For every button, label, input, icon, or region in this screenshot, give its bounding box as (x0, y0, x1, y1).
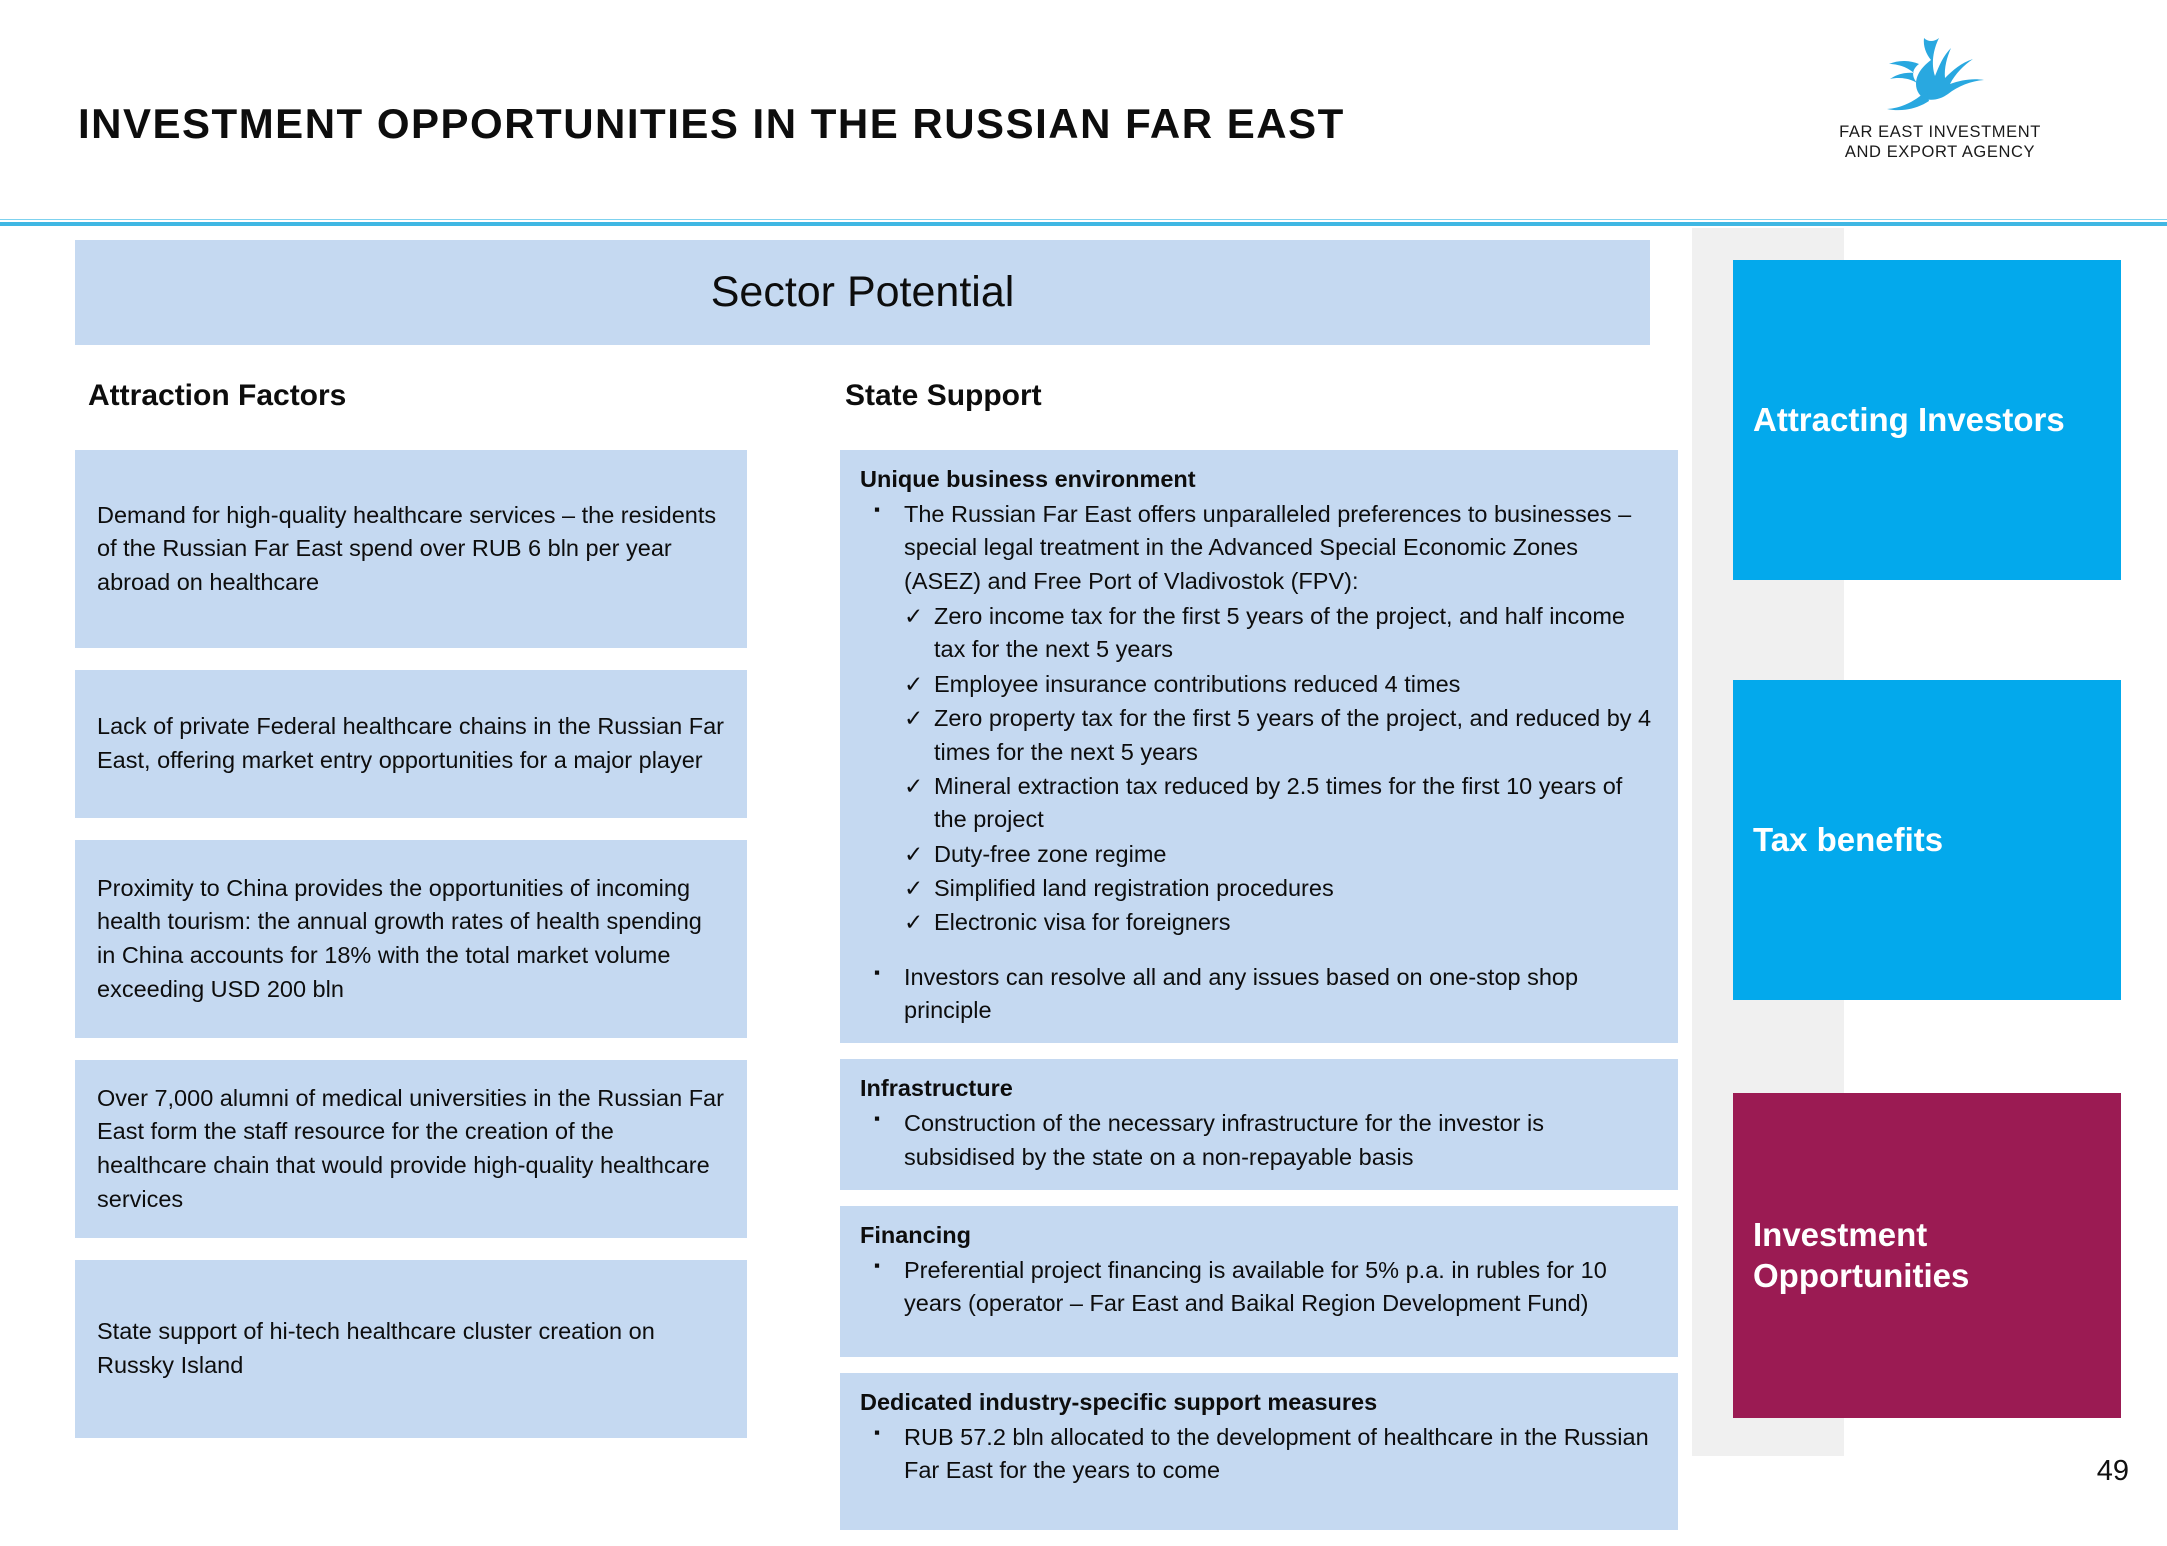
attraction-factor-text: Lack of private Federal healthcare chain… (97, 710, 725, 777)
attraction-factor-text: State support of hi-tech healthcare clus… (97, 1315, 725, 1382)
check-bullet-icon: ✓ (904, 872, 934, 905)
bullet-item: ▪ RUB 57.2 bln allocated to the developm… (860, 1421, 1658, 1488)
page-title: INVESTMENT OPPORTUNITIES IN THE RUSSIAN … (78, 100, 1345, 148)
bullet-item: ✓ Electronic visa for foreigners (860, 906, 1658, 939)
bullet-text: Duty-free zone regime (934, 838, 1658, 871)
attraction-factor-text: Proximity to China provides the opportun… (97, 872, 725, 1006)
sector-potential-banner: Sector Potential (75, 240, 1650, 345)
check-bullet-icon: ✓ (904, 702, 934, 735)
agency-logo: FAR EAST INVESTMENT AND EXPORT AGENCY (1810, 30, 2070, 162)
attraction-factor-card: State support of hi-tech healthcare clus… (75, 1260, 747, 1438)
bullet-item: ▪ The Russian Far East offers unparallel… (860, 498, 1658, 598)
state-support-card-title: Unique business environment (860, 466, 1658, 493)
square-bullet-icon: ▪ (874, 1421, 904, 1445)
sidebar-tile-attracting-investors[interactable]: Attracting Investors (1733, 260, 2121, 580)
square-bullet-icon: ▪ (874, 1107, 904, 1131)
state-support-card: Financing ▪ Preferential project financi… (840, 1206, 1678, 1357)
bullet-text: Preferential project financing is availa… (904, 1254, 1658, 1321)
sector-potential-label: Sector Potential (711, 268, 1015, 317)
state-support-heading: State Support (845, 379, 1042, 413)
check-bullet-icon: ✓ (904, 600, 934, 633)
check-bullet-icon: ✓ (904, 770, 934, 803)
bullet-item: ✓ Zero income tax for the first 5 years … (860, 600, 1658, 667)
sidebar-tile-tax-benefits[interactable]: Tax benefits (1733, 680, 2121, 1000)
state-support-card: Unique business environment ▪ The Russia… (840, 450, 1678, 1043)
lotus-logo-icon (1865, 30, 2015, 122)
state-support-card: Dedicated industry-specific support meas… (840, 1373, 1678, 1530)
bullet-text: Investors can resolve all and any issues… (904, 961, 1658, 1028)
attraction-factors-heading: Attraction Factors (88, 379, 346, 413)
slide-header: INVESTMENT OPPORTUNITIES IN THE RUSSIAN … (0, 0, 2167, 226)
square-bullet-icon: ▪ (874, 1254, 904, 1278)
attraction-factor-text: Over 7,000 alumni of medical universitie… (97, 1082, 725, 1216)
bullet-item: ✓ Mineral extraction tax reduced by 2.5 … (860, 770, 1658, 837)
bullet-text: RUB 57.2 bln allocated to the developmen… (904, 1421, 1658, 1488)
bullet-item: ▪ Preferential project financing is avai… (860, 1254, 1658, 1321)
bullet-text: Electronic visa for foreigners (934, 906, 1658, 939)
bullet-item: ✓ Duty-free zone regime (860, 838, 1658, 871)
bullet-text: Zero income tax for the first 5 years of… (934, 600, 1658, 667)
header-divider-light (0, 219, 2167, 220)
header-divider (0, 222, 2167, 226)
attraction-factor-card: Demand for high-quality healthcare servi… (75, 450, 747, 648)
attraction-factors-column: Demand for high-quality healthcare servi… (75, 450, 747, 1460)
bullet-text: Employee insurance contributions reduced… (934, 668, 1658, 701)
square-bullet-icon: ▪ (874, 961, 904, 985)
bullet-group-spacer (860, 941, 1658, 961)
attraction-factor-text: Demand for high-quality healthcare servi… (97, 499, 725, 600)
state-support-card-title: Infrastructure (860, 1075, 1658, 1102)
check-bullet-icon: ✓ (904, 838, 934, 871)
bullet-item: ✓ Employee insurance contributions reduc… (860, 668, 1658, 701)
bullet-text: The Russian Far East offers unparalleled… (904, 498, 1658, 598)
attraction-factor-card: Proximity to China provides the opportun… (75, 840, 747, 1038)
bullet-item: ▪ Investors can resolve all and any issu… (860, 961, 1658, 1028)
bullet-text: Zero property tax for the first 5 years … (934, 702, 1658, 769)
page-number: 49 (2097, 1455, 2129, 1488)
check-bullet-icon: ✓ (904, 906, 934, 939)
logo-text-line-1: FAR EAST INVESTMENT (1810, 122, 2070, 142)
bullet-item: ▪ Construction of the necessary infrastr… (860, 1107, 1658, 1174)
attraction-factor-card: Lack of private Federal healthcare chain… (75, 670, 747, 818)
logo-text-line-2: AND EXPORT AGENCY (1810, 142, 2070, 162)
sidebar-tile-label: Attracting Investors (1753, 400, 2065, 441)
bullet-item: ✓ Zero property tax for the first 5 year… (860, 702, 1658, 769)
check-bullet-icon: ✓ (904, 668, 934, 701)
state-support-column: Unique business environment ▪ The Russia… (840, 450, 1678, 1546)
state-support-card: Infrastructure ▪ Construction of the nec… (840, 1059, 1678, 1190)
state-support-card-title: Financing (860, 1222, 1658, 1249)
sidebar-tile-investment-opportunities[interactable]: Investment Opportunities (1733, 1093, 2121, 1418)
bullet-item: ✓ Simplified land registration procedure… (860, 872, 1658, 905)
attraction-factor-card: Over 7,000 alumni of medical universitie… (75, 1060, 747, 1238)
state-support-card-title: Dedicated industry-specific support meas… (860, 1389, 1658, 1416)
square-bullet-icon: ▪ (874, 498, 904, 522)
bullet-text: Mineral extraction tax reduced by 2.5 ti… (934, 770, 1658, 837)
bullet-text: Construction of the necessary infrastruc… (904, 1107, 1658, 1174)
sidebar-tile-label: Investment Opportunities (1753, 1215, 2101, 1297)
bullet-text: Simplified land registration procedures (934, 872, 1658, 905)
sidebar-tile-label: Tax benefits (1753, 820, 1943, 861)
